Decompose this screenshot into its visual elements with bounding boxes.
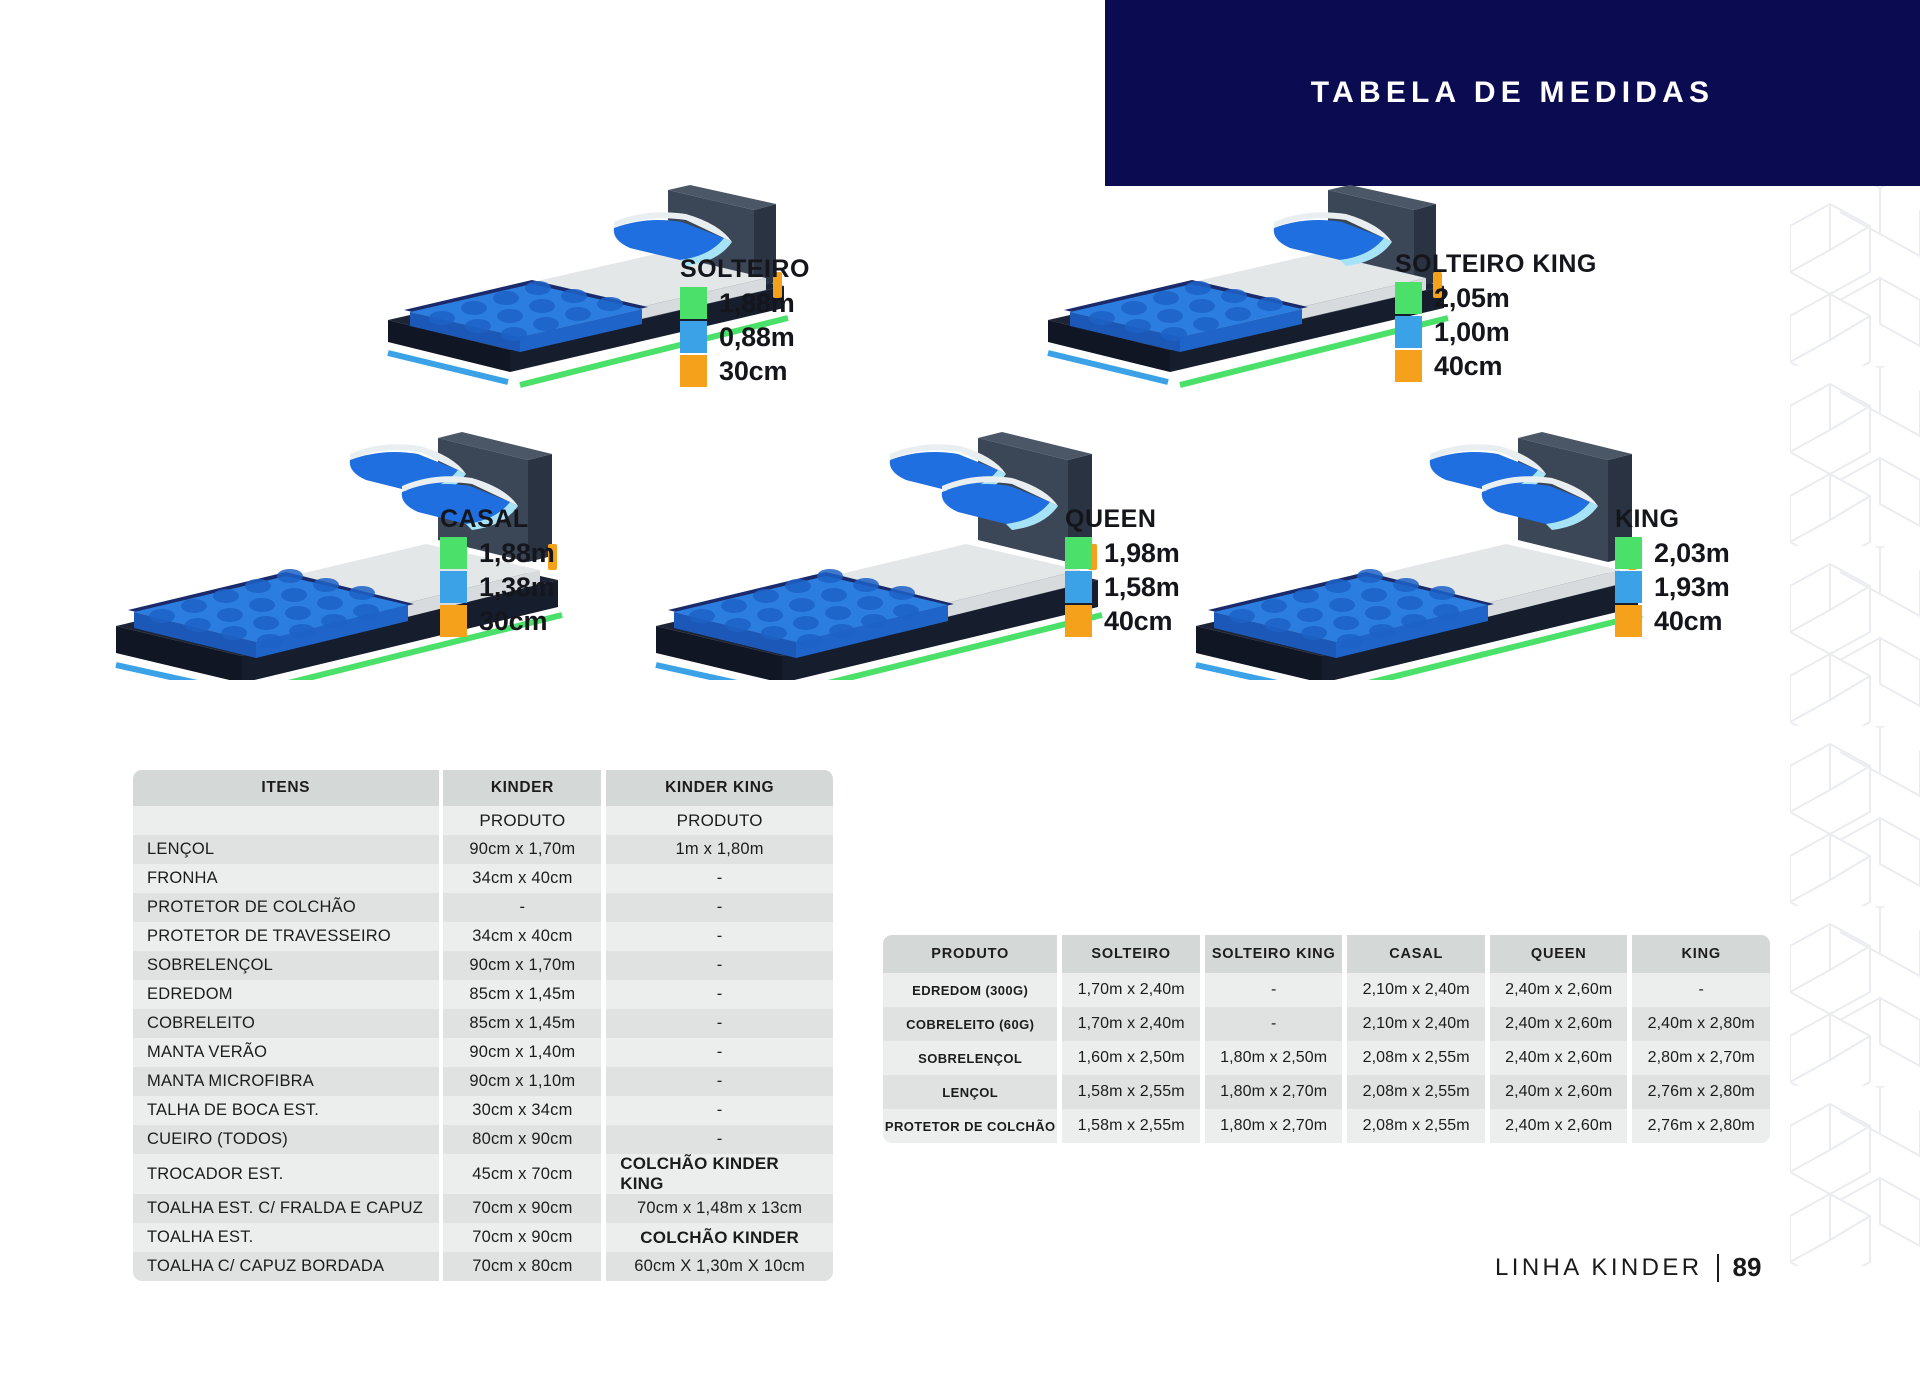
bed-name: CASAL — [440, 505, 555, 534]
cell-item: TOALHA C/ CAPUZ BORDADA — [133, 1252, 439, 1281]
subheader-kinder: PRODUTO — [443, 806, 601, 835]
cell-value: 1,58m x 2,55m — [1062, 1109, 1200, 1143]
cell-item: TROCADOR EST. — [133, 1154, 439, 1194]
cell-kinder: 34cm x 40cm — [443, 922, 601, 951]
cell-value: 2,76m x 2,80m — [1632, 1075, 1770, 1109]
value-length: 2,05m — [1434, 283, 1510, 314]
cell-value: - — [1632, 973, 1770, 1007]
cell-value: - — [1205, 973, 1343, 1007]
cell-kinder-king: 70cm x 1,48m x 13cm — [606, 1194, 833, 1223]
cell-value: 2,10m x 2,40m — [1347, 973, 1485, 1007]
table-row: COBRELEITO (60G)1,70m x 2,40m-2,10m x 2,… — [883, 1007, 1770, 1041]
cell-kinder: 70cm x 90cm — [443, 1223, 601, 1252]
bed-legend-casal: CASAL 1,88m 1,38m 30cm — [440, 505, 555, 638]
footer: LINHA KINDER 89 — [1495, 1252, 1761, 1283]
cell-kinder-king: 60cm X 1,30m X 10cm — [606, 1252, 833, 1281]
table-row: TOALHA EST.70cm x 90cmCOLCHÃO KINDER — [133, 1223, 833, 1252]
bed-name: QUEEN — [1065, 505, 1180, 534]
footer-divider — [1717, 1254, 1719, 1282]
cell-value: 1,80m x 2,70m — [1205, 1075, 1343, 1109]
cell-value: 1,60m x 2,50m — [1062, 1041, 1200, 1075]
table-row: LENÇOL90cm x 1,70m1m x 1,80m — [133, 835, 833, 864]
col-header-solteiro-king: SOLTEIRO KING — [1205, 935, 1343, 973]
subheader-kinder-king: PRODUTO — [606, 806, 833, 835]
cell-kinder: 30cm x 34cm — [443, 1096, 601, 1125]
cell-item: CUEIRO (TODOS) — [133, 1125, 439, 1154]
legend-row-width: 1,00m — [1395, 315, 1597, 349]
bed-name: SOLTEIRO — [680, 255, 810, 284]
cell-kinder-king: - — [606, 864, 833, 893]
legend-row-length: 2,03m — [1615, 536, 1730, 570]
table-row: LENÇOL1,58m x 2,55m1,80m x 2,70m2,08m x … — [883, 1075, 1770, 1109]
cell-kinder-king: - — [606, 1067, 833, 1096]
cell-item: COBRELEITO — [133, 1009, 439, 1038]
bed-card-casal: CASAL 1,88m 1,38m 30cm — [110, 420, 590, 680]
col-header-solteiro: SOLTEIRO — [1062, 935, 1200, 973]
cell-item: TOALHA EST. — [133, 1223, 439, 1252]
value-length: 1,88m — [479, 538, 555, 569]
value-height: 40cm — [1434, 351, 1502, 382]
cell-value: 2,40m x 2,60m — [1490, 1075, 1628, 1109]
bed-card-solteiro-king: SOLTEIRO KING 2,05m 1,00m 40cm — [1040, 160, 1460, 390]
legend-row-height: 30cm — [680, 354, 810, 388]
cell-item: MANTA MICROFIBRA — [133, 1067, 439, 1096]
cell-value: 2,40m x 2,60m — [1490, 1041, 1628, 1075]
cell-item: LENÇOL — [133, 835, 439, 864]
cell-value: 2,40m x 2,60m — [1490, 973, 1628, 1007]
table-row: CUEIRO (TODOS)80cm x 90cm- — [133, 1125, 833, 1154]
legend-row-length: 1,88m — [440, 536, 555, 570]
cell-value: 2,40m x 2,80m — [1632, 1007, 1770, 1041]
cell-item: TALHA DE BOCA EST. — [133, 1096, 439, 1125]
cell-kinder: 85cm x 1,45m — [443, 980, 601, 1009]
subheader-blank — [133, 806, 439, 835]
swatch-length-green — [680, 287, 707, 319]
table-row: PROTETOR DE COLCHÃO1,58m x 2,55m1,80m x … — [883, 1109, 1770, 1143]
value-width: 1,00m — [1434, 317, 1510, 348]
bed-card-solteiro: SOLTEIRO 1,88m 0,88m 30cm — [380, 160, 800, 390]
value-height: 30cm — [479, 606, 547, 637]
col-header-queen: QUEEN — [1490, 935, 1628, 973]
value-height: 30cm — [719, 356, 787, 387]
swatch-length-green — [1615, 537, 1642, 569]
cell-value: 2,10m x 2,40m — [1347, 1007, 1485, 1041]
bed-legend-solteiro: SOLTEIRO 1,88m 0,88m 30cm — [680, 255, 810, 388]
cell-value: 2,08m x 2,55m — [1347, 1041, 1485, 1075]
value-width: 1,58m — [1104, 572, 1180, 603]
isometric-pattern-decoration — [1790, 186, 1920, 1266]
cell-kinder-king: COLCHÃO KINDER KING — [606, 1154, 833, 1194]
cell-kinder-king: 1m x 1,80m — [606, 835, 833, 864]
swatch-height-orange — [1615, 605, 1642, 637]
legend-row-height: 40cm — [1395, 349, 1597, 383]
legend-row-height: 40cm — [1615, 604, 1730, 638]
cell-kinder-king: - — [606, 893, 833, 922]
cell-value: 1,70m x 2,40m — [1062, 1007, 1200, 1041]
swatch-width-blue — [1065, 571, 1092, 603]
table-row: TROCADOR EST.45cm x 70cmCOLCHÃO KINDER K… — [133, 1154, 833, 1194]
bed-card-queen: QUEEN 1,98m 1,58m 40cm — [650, 420, 1130, 680]
cell-item: PROTETOR DE TRAVESSEIRO — [133, 922, 439, 951]
value-width: 1,38m — [479, 572, 555, 603]
cell-kinder-king: - — [606, 1038, 833, 1067]
swatch-width-blue — [1615, 571, 1642, 603]
value-width: 0,88m — [719, 322, 795, 353]
cell-value: 1,80m x 2,50m — [1205, 1041, 1343, 1075]
table-row: COBRELEITO85cm x 1,45m- — [133, 1009, 833, 1038]
cell-kinder: 34cm x 40cm — [443, 864, 601, 893]
page-number: 89 — [1733, 1252, 1762, 1283]
bed-card-king: KING 2,03m 1,93m 40cm — [1190, 420, 1670, 680]
cell-item: PROTETOR DE COLCHÃO — [133, 893, 439, 922]
header-banner: TABELA DE MEDIDAS — [1105, 0, 1920, 186]
table-row: EDREDOM85cm x 1,45m- — [133, 980, 833, 1009]
cell-kinder: 90cm x 1,40m — [443, 1038, 601, 1067]
swatch-width-blue — [680, 321, 707, 353]
value-height: 40cm — [1104, 606, 1172, 637]
swatch-height-orange — [1395, 350, 1422, 382]
cell-item: FRONHA — [133, 864, 439, 893]
cell-row-label: PROTETOR DE COLCHÃO — [883, 1109, 1057, 1143]
swatch-height-orange — [1065, 605, 1092, 637]
legend-row-height: 30cm — [440, 604, 555, 638]
legend-row-width: 1,38m — [440, 570, 555, 604]
cell-value: 2,40m x 2,60m — [1490, 1007, 1628, 1041]
cell-kinder-king: - — [606, 922, 833, 951]
cell-kinder-king: COLCHÃO KINDER — [606, 1223, 833, 1252]
cell-item: TOALHA EST. C/ FRALDA E CAPUZ — [133, 1194, 439, 1223]
cell-kinder: 80cm x 90cm — [443, 1125, 601, 1154]
table-row: PROTETOR DE COLCHÃO-- — [133, 893, 833, 922]
table-row: TALHA DE BOCA EST.30cm x 34cm- — [133, 1096, 833, 1125]
cell-kinder-king: - — [606, 1009, 833, 1038]
swatch-height-orange — [680, 355, 707, 387]
cell-row-label: COBRELEITO (60G) — [883, 1007, 1057, 1041]
cell-kinder: 90cm x 1,70m — [443, 951, 601, 980]
table-row: TOALHA EST. C/ FRALDA E CAPUZ70cm x 90cm… — [133, 1194, 833, 1223]
bed-legend-queen: QUEEN 1,98m 1,58m 40cm — [1065, 505, 1180, 638]
cell-value: 2,40m x 2,60m — [1490, 1109, 1628, 1143]
table-row: SOBRELENÇOL90cm x 1,70m- — [133, 951, 833, 980]
legend-row-length: 1,98m — [1065, 536, 1180, 570]
legend-row-width: 1,58m — [1065, 570, 1180, 604]
swatch-length-green — [1065, 537, 1092, 569]
cell-row-label: LENÇOL — [883, 1075, 1057, 1109]
col-header-kinder-king: KINDER KING — [606, 770, 833, 806]
cell-value: 2,80m x 2,70m — [1632, 1041, 1770, 1075]
col-header-king: KING — [1632, 935, 1770, 973]
col-header-casal: CASAL — [1347, 935, 1485, 973]
table-row: MANTA VERÃO90cm x 1,40m- — [133, 1038, 833, 1067]
cell-value: 1,70m x 2,40m — [1062, 973, 1200, 1007]
legend-row-height: 40cm — [1065, 604, 1180, 638]
legend-row-width: 1,93m — [1615, 570, 1730, 604]
bed-name: SOLTEIRO KING — [1395, 250, 1597, 279]
cell-value: - — [1205, 1007, 1343, 1041]
bed-legend-king: KING 2,03m 1,93m 40cm — [1615, 505, 1730, 638]
table-row: EDREDOM (300G)1,70m x 2,40m-2,10m x 2,40… — [883, 973, 1770, 1007]
swatch-height-orange — [440, 605, 467, 637]
legend-row-length: 1,88m — [680, 286, 810, 320]
col-header-produto: PRODUTO — [883, 935, 1057, 973]
cell-kinder: 90cm x 1,70m — [443, 835, 601, 864]
page-root: TABELA DE MEDIDAS — [0, 0, 1920, 1396]
cell-row-label: EDREDOM (300G) — [883, 973, 1057, 1007]
legend-row-length: 2,05m — [1395, 281, 1597, 315]
cell-kinder: - — [443, 893, 601, 922]
table-subheader-row: PRODUTOPRODUTO — [133, 806, 833, 835]
bed-name: KING — [1615, 505, 1730, 534]
cell-row-label: SOBRELENÇOL — [883, 1041, 1057, 1075]
cell-item: MANTA VERÃO — [133, 1038, 439, 1067]
value-length: 2,03m — [1654, 538, 1730, 569]
cell-value: 2,76m x 2,80m — [1632, 1109, 1770, 1143]
cell-value: 1,58m x 2,55m — [1062, 1075, 1200, 1109]
cell-kinder: 85cm x 1,45m — [443, 1009, 601, 1038]
swatch-width-blue — [1395, 316, 1422, 348]
value-length: 1,88m — [719, 288, 795, 319]
cell-kinder: 70cm x 90cm — [443, 1194, 601, 1223]
cell-kinder: 45cm x 70cm — [443, 1154, 601, 1194]
value-height: 40cm — [1654, 606, 1722, 637]
cell-kinder-king: - — [606, 980, 833, 1009]
table-row: PROTETOR DE TRAVESSEIRO34cm x 40cm- — [133, 922, 833, 951]
table-row: MANTA MICROFIBRA90cm x 1,10m- — [133, 1067, 833, 1096]
cell-item: SOBRELENÇOL — [133, 951, 439, 980]
cell-kinder-king: - — [606, 951, 833, 980]
bed-illustration-double — [650, 420, 1130, 680]
swatch-length-green — [1395, 282, 1422, 314]
cell-kinder: 70cm x 80cm — [443, 1252, 601, 1281]
table-row: FRONHA34cm x 40cm- — [133, 864, 833, 893]
page-title: TABELA DE MEDIDAS — [1311, 76, 1714, 110]
table-row: TOALHA C/ CAPUZ BORDADA70cm x 80cm60cm X… — [133, 1252, 833, 1281]
cell-item: EDREDOM — [133, 980, 439, 1009]
table-header-row: PRODUTOSOLTEIROSOLTEIRO KINGCASALQUEENKI… — [883, 935, 1770, 973]
table-header-row: ITENSKINDERKINDER KING — [133, 770, 833, 806]
kinder-measures-table: ITENSKINDERKINDER KINGPRODUTOPRODUTOLENÇ… — [133, 770, 833, 1281]
cell-kinder: 90cm x 1,10m — [443, 1067, 601, 1096]
bed-illustration-double — [1190, 420, 1670, 680]
value-length: 1,98m — [1104, 538, 1180, 569]
cell-value: 2,08m x 2,55m — [1347, 1109, 1485, 1143]
produto-measures-table: PRODUTOSOLTEIROSOLTEIRO KINGCASALQUEENKI… — [883, 935, 1770, 1143]
footer-collection-label: LINHA KINDER — [1495, 1254, 1703, 1282]
col-header-itens: ITENS — [133, 770, 439, 806]
table-row: SOBRELENÇOL1,60m x 2,50m1,80m x 2,50m2,0… — [883, 1041, 1770, 1075]
bed-legend-solteiro-king: SOLTEIRO KING 2,05m 1,00m 40cm — [1395, 250, 1597, 383]
value-width: 1,93m — [1654, 572, 1730, 603]
swatch-length-green — [440, 537, 467, 569]
swatch-width-blue — [440, 571, 467, 603]
cell-kinder-king: - — [606, 1096, 833, 1125]
cell-kinder-king: - — [606, 1125, 833, 1154]
cell-value: 2,08m x 2,55m — [1347, 1075, 1485, 1109]
col-header-kinder: KINDER — [443, 770, 601, 806]
cell-value: 1,80m x 2,70m — [1205, 1109, 1343, 1143]
legend-row-width: 0,88m — [680, 320, 810, 354]
